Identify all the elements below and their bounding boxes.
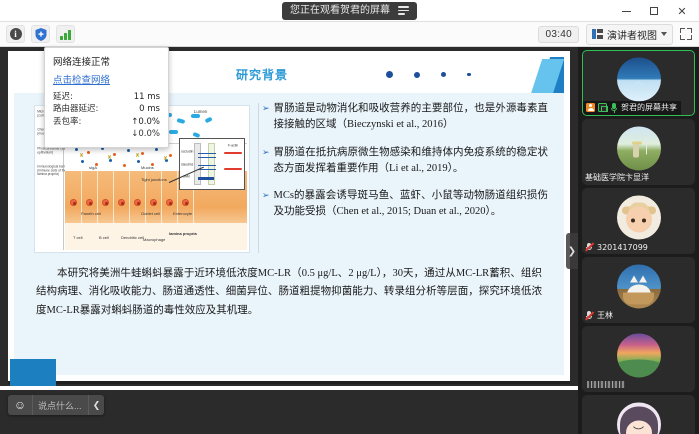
speaker-view-icon [592,29,603,39]
view-mode-selector[interactable]: 演讲者视图 [586,24,673,45]
network-row-value: 11 ms [134,91,160,103]
window-controls: ✕ [613,0,695,22]
bullet-item: ➢ 胃肠道是动物消化和吸收营养的主要部位，也是外源毒素直接接触的区域（Biecz… [262,101,548,134]
view-mode-label: 演讲者视图 [607,27,657,42]
slide-summary-paragraph: 本研究将美洲牛蛙蝌蚪暴露于近环境低浓度MC-LR（0.5 μg/L、2 μg/L… [36,265,542,320]
participant-tile-0[interactable]: ︿ 贺君的屏幕共享 [582,50,695,116]
network-status-tooltip: 网络连接正常 点击检查网络 延迟: 11 ms 路由器延迟: 0 ms 丢包率:… [44,47,169,148]
network-row-value: ↑0.0% [131,116,160,128]
mic-off-icon [585,311,594,321]
network-packet-loss-down: ↓0.0% [53,128,160,140]
network-signal-icon [60,29,71,40]
toolbar-right-group: 03:40 演讲者视图 [538,24,699,45]
slide-header-decoration [516,57,564,93]
network-row-label: 丢包率: [53,116,81,128]
figure-factin-label: F-actin [228,144,238,148]
participant-tile-5[interactable]: ︶ [582,395,695,434]
participant-name: 王林 [597,310,613,321]
network-row-packet-loss: 丢包率: ↑0.0% [53,116,160,128]
participant-namebar: 基础医学院卞显洋 [582,171,653,185]
maximize-button[interactable] [641,1,667,21]
close-button[interactable]: ✕ [669,1,695,21]
participant-name: 贺君的屏幕共享 [621,102,677,113]
network-row-label: 延迟: [53,91,73,103]
chevron-down-icon [661,32,667,36]
bullet-marker-icon: ➢ [262,101,270,134]
screen-share-banner[interactable]: 您正在观看贺君的屏幕 [282,2,417,20]
chevron-left-icon[interactable]: ❮ [88,395,104,415]
figure-paneth-label: Paneth cell [81,211,101,216]
network-row-router-latency: 路由器延迟: 0 ms [53,103,160,115]
avatar [617,126,661,170]
security-shield-icon [35,28,47,41]
bullet-text: 胃肠道是动物消化和吸收营养的主要部位，也是外源毒素直接接触的区域（Bieczyn… [274,101,548,134]
figure-dendritic-label: Dendritic cell [121,235,144,240]
participant-name-blurred [585,379,627,390]
participant-tile-4[interactable] [582,326,695,392]
avatar: ︶ [617,402,661,434]
minimize-button[interactable] [613,1,639,21]
slide-bullet-list: ➢ 胃肠道是动物消化和吸收营养的主要部位，也是外源毒素直接接触的区域（Biecz… [262,101,548,232]
slide-title: 研究背景 [236,66,288,83]
window-titlebar: 您正在观看贺君的屏幕 ✕ [0,0,699,22]
figure-bcell-label: B cell [99,235,109,240]
chat-input[interactable]: 说点什么... [32,395,88,415]
slide-shadow [8,381,570,384]
chevron-right-icon: ❯ [568,246,576,257]
bullets-divider [258,103,259,253]
bullet-text: 胃肠道在抵抗病原微生物感染和维持体内免疫系统的稳定状态方面发挥着重要作用（Li … [274,145,548,178]
figure-goblet-label: Goblet cell [141,211,160,216]
network-row-value: 0 ms [139,103,160,115]
avatar [617,195,661,239]
participant-namebar: 贺君的屏幕共享 [583,101,681,115]
bullet-item: ➢ 胃肠道在抵抗病原微生物感染和维持体内免疫系统的稳定状态方面发挥着重要作用（L… [262,145,548,178]
mic-on-icon [610,103,618,113]
network-status-text: 网络连接正常 [53,54,160,68]
figure-enterocyte-label: Enterocyte [173,211,192,216]
bullet-text: MCs的暴露会诱导斑马鱼、蓝虾、小鼠等动物肠道组织损伤及功能受损（Chen et… [274,188,548,221]
meeting-timer: 03:40 [538,26,579,43]
participant-tile-1[interactable]: 基础医学院卞显洋 [582,119,695,185]
participant-name: 3201417099 [597,243,648,252]
avatar: ︿ [617,57,661,101]
avatar [617,264,661,308]
network-row-latency: 延迟: 11 ms [53,91,160,103]
slide-header-dots [386,71,471,78]
hamburger-menu-icon[interactable] [398,6,409,15]
close-icon: ✕ [677,5,686,18]
participant-tile-2[interactable]: 3201417099 [582,188,695,254]
smiley-face-icon[interactable]: ☺ [8,395,32,415]
info-icon: i [10,28,22,40]
meeting-toolbar: i 03:40 演讲者视图 [0,22,699,47]
info-button[interactable]: i [6,25,25,43]
participant-tile-3[interactable]: 王林 [582,257,695,323]
fullscreen-icon[interactable] [680,28,692,40]
avatar [617,333,661,377]
screen-share-badge-icon [598,103,607,112]
bullet-item: ➢ MCs的暴露会诱导斑马鱼、蓝虾、小鼠等动物肠道组织损伤及功能受损（Chen … [262,188,548,221]
participant-namebar: 王林 [582,309,617,323]
mic-off-icon [585,242,594,252]
figure-lamina-propria-layer: T cell B cell Dendritic cell Macrophage … [65,223,247,250]
slide-thumbnail-card [10,359,56,386]
figure-siga-label: sIgA [89,165,97,170]
bullet-marker-icon: ➢ [262,145,270,178]
participant-namebar [582,378,631,392]
figure-tight-junction-inset: occludin claudins JAM F-actin [179,138,245,190]
figure-mucins-label: Mucins [141,165,154,170]
chat-input-bar[interactable]: ☺ 说点什么... ❮ [8,395,104,415]
security-button[interactable] [31,25,50,43]
figure-lamina-label: lamina propria [169,231,197,236]
participant-rail[interactable]: ︿ 贺君的屏幕共享 基础医学院卞显洋 3201417099 [578,47,699,434]
person-badge-icon [586,103,595,112]
bullet-marker-icon: ➢ [262,188,270,221]
screen-share-banner-label: 您正在观看贺君的屏幕 [290,2,390,20]
figure-macrophage-label: Macrophage [143,237,165,242]
figure-occludin-label: occludin [181,150,193,154]
figure-claudins-label: claudins [181,163,193,167]
check-network-link[interactable]: 点击检查网络 [53,72,160,86]
network-status-button[interactable] [56,25,75,43]
network-row-label: 路由器延迟: [53,103,98,115]
figure-tcell-label: T cell [73,235,83,240]
figure-tight-junctions-label: Tight junctions [141,177,167,182]
next-page-button[interactable]: ❯ [566,233,578,269]
participant-name: 基础医学院卞显洋 [585,172,649,183]
participant-namebar: 3201417099 [582,241,652,254]
meeting-window: 您正在观看贺君的屏幕 ✕ i 03:40 [0,0,699,434]
toolbar-left-group: i [0,25,75,43]
